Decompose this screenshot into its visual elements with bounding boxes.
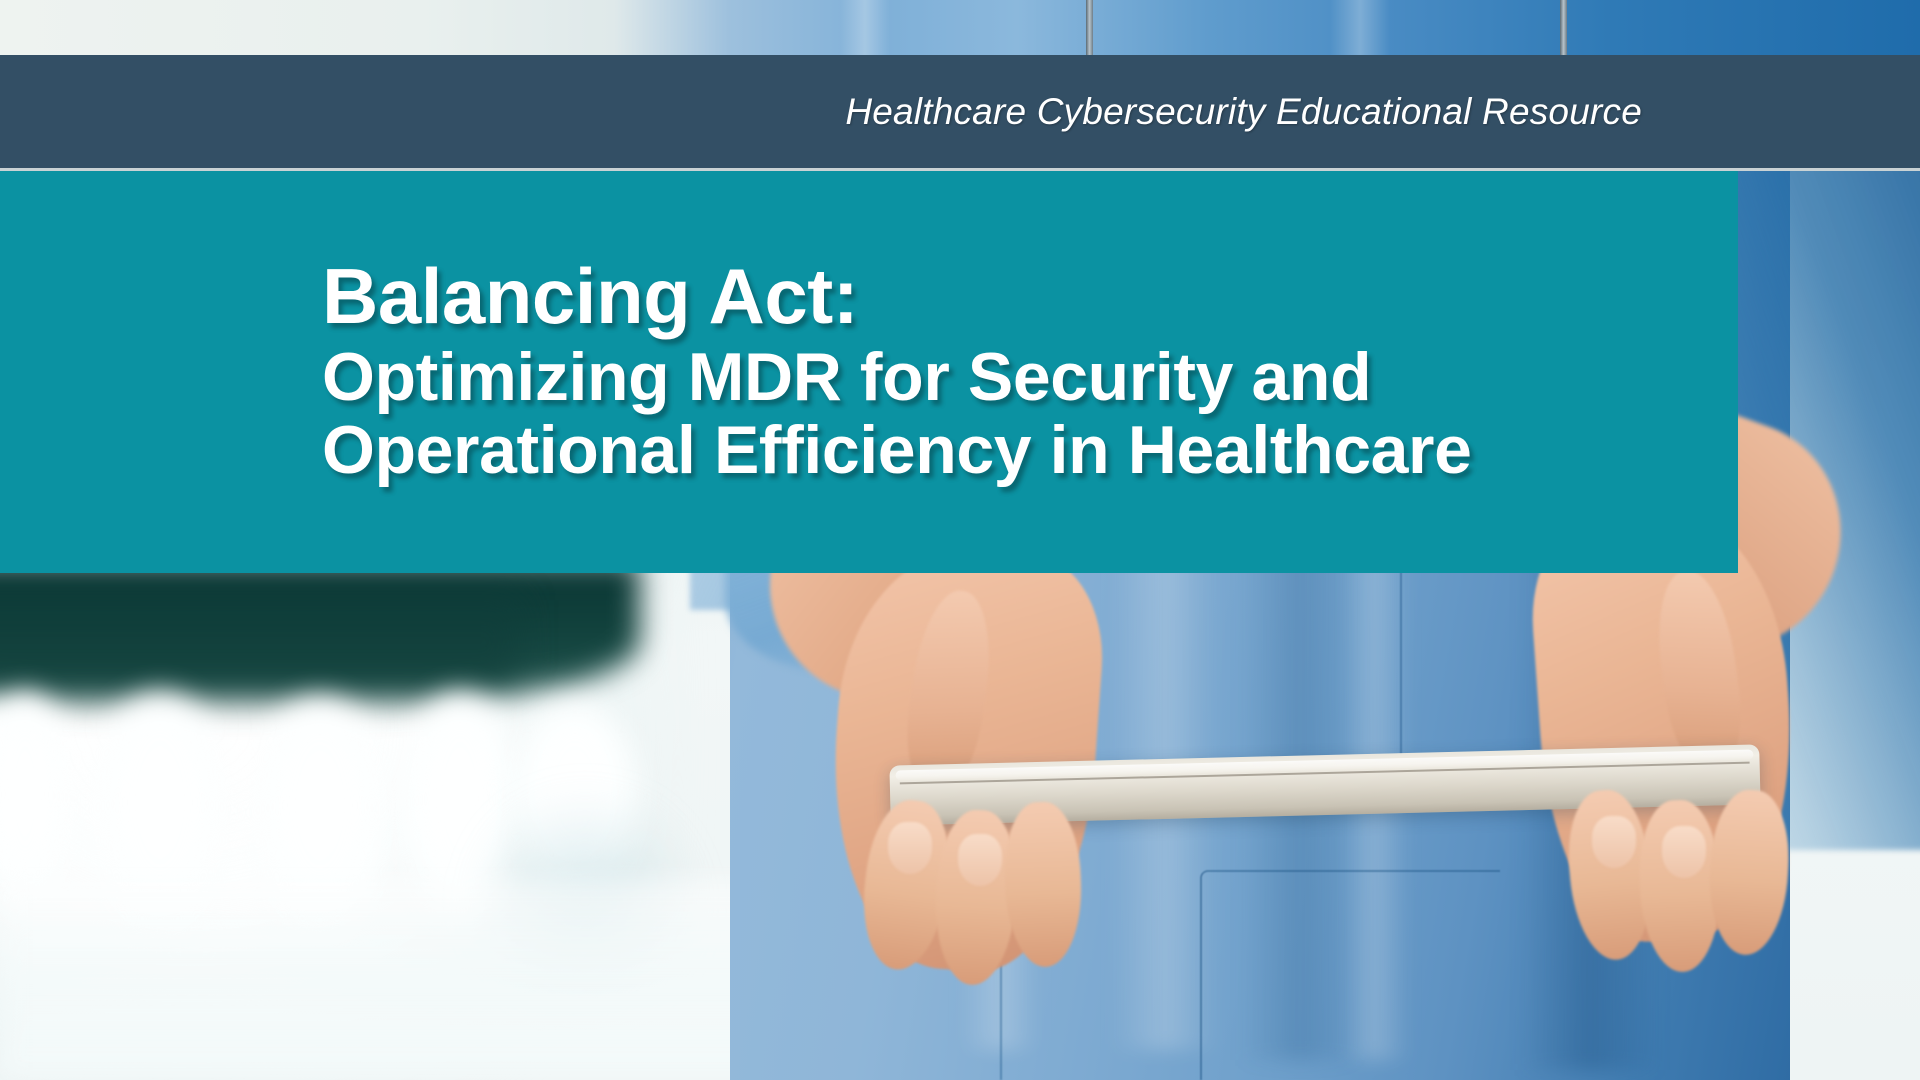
top-strip-scrubs [0, 0, 1920, 58]
stethoscope-tube [1560, 0, 1567, 58]
page-title: Balancing Act: [322, 257, 1678, 335]
scrub-front-pocket [1200, 870, 1500, 1080]
resource-banner: Healthcare Cybersecurity Educational Res… [0, 55, 1920, 168]
stethoscope-tube [1086, 0, 1093, 58]
fingernail [888, 822, 932, 874]
fingernail [1592, 816, 1636, 868]
photo-top-strip [0, 0, 1920, 58]
fingernail [1662, 826, 1706, 878]
page-subtitle: Optimizing MDR for Security and Operatio… [322, 341, 1678, 488]
page-subtitle-line-2: Operational Efficiency in Healthcare [322, 414, 1678, 487]
banner-label: Healthcare Cybersecurity Educational Res… [845, 91, 1642, 133]
page-subtitle-line-1: Optimizing MDR for Security and [322, 341, 1678, 414]
top-strip-fold [840, 0, 890, 58]
title-band: Balancing Act: Optimizing MDR for Securi… [0, 171, 1738, 573]
fingernail [958, 834, 1002, 886]
title-slide: Healthcare Cybersecurity Educational Res… [0, 0, 1920, 1080]
top-strip-fold [1330, 0, 1390, 58]
